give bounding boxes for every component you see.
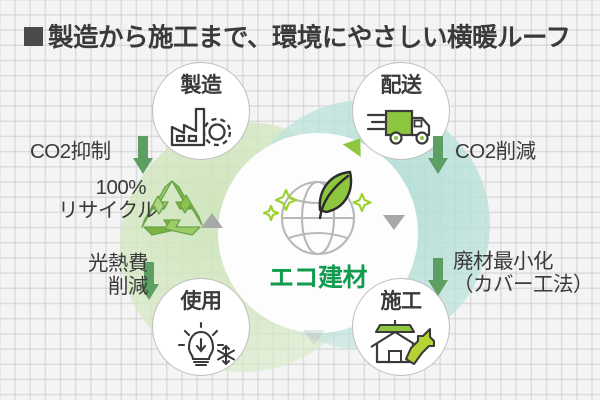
arrow-down-co2-reduce-icon <box>427 136 449 176</box>
arrow-down-co2-suppress-icon <box>132 136 154 176</box>
label-co2-reduce: CO2削減 <box>455 140 536 163</box>
lightbulb-snowflake-icon <box>153 313 249 371</box>
label-co2-suppress: CO2抑制 <box>30 140 111 163</box>
cycle-arrow-bottom-icon <box>303 330 325 345</box>
label-energy-saving: 光熱費 削減 <box>52 252 148 299</box>
leaf-icon <box>320 172 351 218</box>
eco-globe-group <box>258 150 378 265</box>
factory-gear-icon <box>153 97 249 155</box>
label-waste-minimize: 廃材最小化 （カバー工法） <box>453 250 593 297</box>
node-delivery-label: 配送 <box>353 69 449 99</box>
label-recycle-line1: 100% <box>58 176 146 199</box>
node-manufacture[interactable]: 製造 <box>152 62 250 160</box>
label-waste-line1: 廃材最小化 <box>453 250 593 273</box>
infographic-canvas: 製造から施工まで、環境にやさしい横暖ルーフ <box>0 0 600 400</box>
node-use[interactable]: 使用 <box>152 278 250 376</box>
arrow-down-waste-icon <box>427 258 449 298</box>
label-recycle: 100% リサイクル <box>58 176 146 223</box>
label-energy-line2: 削減 <box>52 275 148 298</box>
label-waste-line2: （カバー工法） <box>453 273 593 296</box>
page-title: 製造から施工まで、環境にやさしい横暖ルーフ <box>24 18 584 52</box>
node-use-label: 使用 <box>153 285 249 315</box>
title-bullet-icon <box>24 27 43 46</box>
cycle-arrow-right-icon <box>383 215 405 230</box>
globe-leaf-svg <box>258 150 378 265</box>
title-text: 製造から施工まで、環境にやさしい横暖ルーフ <box>48 17 570 54</box>
house-wrench-icon <box>353 313 449 371</box>
node-manufacture-label: 製造 <box>153 69 249 99</box>
label-recycle-line2: リサイクル <box>58 199 146 222</box>
label-energy-line1: 光熱費 <box>52 252 148 275</box>
